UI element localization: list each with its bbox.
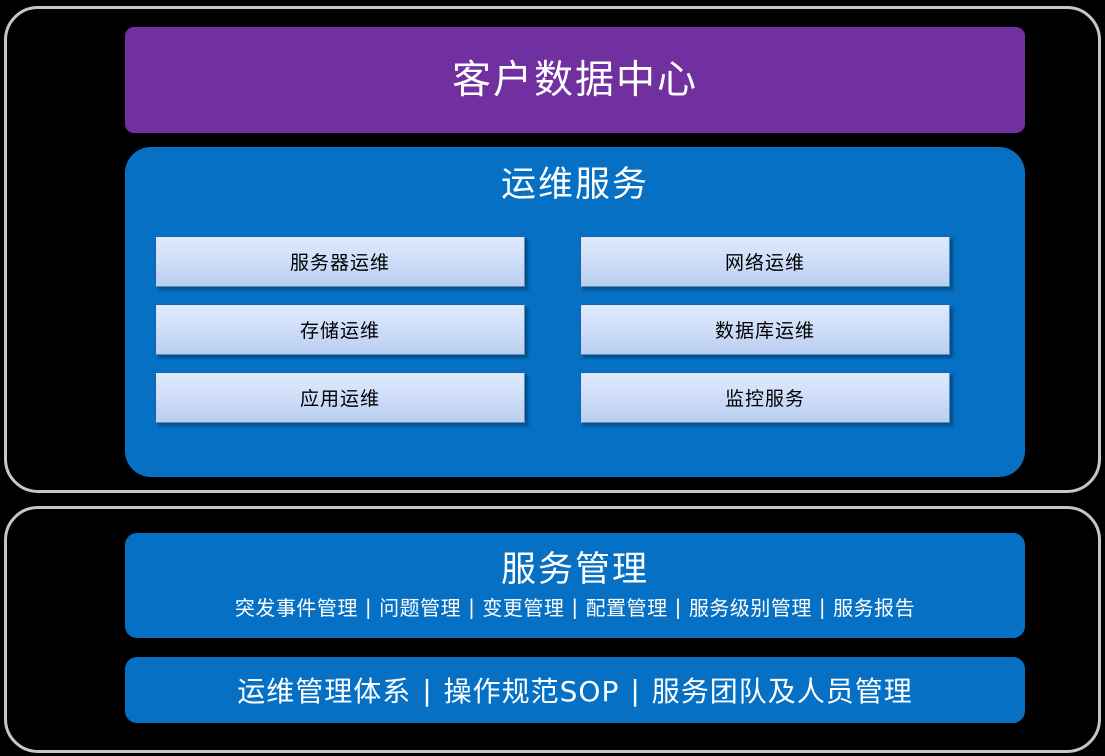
oam-item-label: 存储运维 — [300, 316, 380, 343]
service-management-item-list: 突发事件管理 | 问题管理 | 变更管理 | 配置管理 | 服务级别管理 | 服… — [235, 592, 915, 621]
oam-item-monitoring[interactable]: 监控服务 — [580, 372, 950, 423]
oam-item-label: 监控服务 — [725, 384, 805, 411]
service-management-item[interactable]: 服务级别管理 — [689, 592, 812, 621]
foundation-item[interactable]: 操作规范SOP — [444, 670, 620, 710]
list-separator: | — [358, 595, 379, 619]
foundation-item[interactable]: 运维管理体系 — [237, 670, 411, 710]
list-separator: | — [812, 595, 833, 619]
oam-item-server[interactable]: 服务器运维 — [155, 236, 525, 287]
oam-services-title: 运维服务 — [125, 164, 1025, 206]
oam-services-grid: 服务器运维 网络运维 存储运维 数据库运维 应用运维 监控服务 — [155, 236, 995, 423]
oam-item-network[interactable]: 网络运维 — [580, 236, 950, 287]
service-management-title: 服务管理 — [501, 550, 649, 590]
foundation-bar: 运维管理体系 | 操作规范SOP | 服务团队及人员管理 — [125, 657, 1025, 723]
service-management-panel: 服务管理 突发事件管理 | 问题管理 | 变更管理 | 配置管理 | 服务级别管… — [125, 533, 1025, 638]
oam-item-label: 网络运维 — [725, 248, 805, 275]
customer-data-center-header[interactable]: 客户数据中心 — [125, 27, 1025, 133]
list-separator: | — [461, 595, 482, 619]
service-management-item[interactable]: 变更管理 — [482, 592, 564, 621]
oam-item-label: 应用运维 — [300, 384, 380, 411]
service-management-item[interactable]: 配置管理 — [586, 592, 668, 621]
oam-item-storage[interactable]: 存储运维 — [155, 304, 525, 355]
service-management-item[interactable]: 问题管理 — [379, 592, 461, 621]
service-management-item[interactable]: 服务报告 — [833, 592, 915, 621]
foundation-item[interactable]: 服务团队及人员管理 — [652, 670, 913, 710]
oam-item-database[interactable]: 数据库运维 — [580, 304, 950, 355]
oam-item-label: 服务器运维 — [290, 248, 390, 275]
oam-services-panel: 运维服务 服务器运维 网络运维 存储运维 数据库运维 应用运维 监控服务 — [125, 147, 1025, 477]
customer-data-center-title: 客户数据中心 — [452, 61, 698, 100]
list-separator: | — [411, 674, 443, 707]
list-separator: | — [619, 674, 651, 707]
oam-item-application[interactable]: 应用运维 — [155, 372, 525, 423]
list-separator: | — [668, 595, 689, 619]
list-separator: | — [564, 595, 585, 619]
service-management-item[interactable]: 突发事件管理 — [235, 592, 358, 621]
oam-item-label: 数据库运维 — [715, 316, 815, 343]
foundation-item-list: 运维管理体系 | 操作规范SOP | 服务团队及人员管理 — [237, 670, 913, 710]
